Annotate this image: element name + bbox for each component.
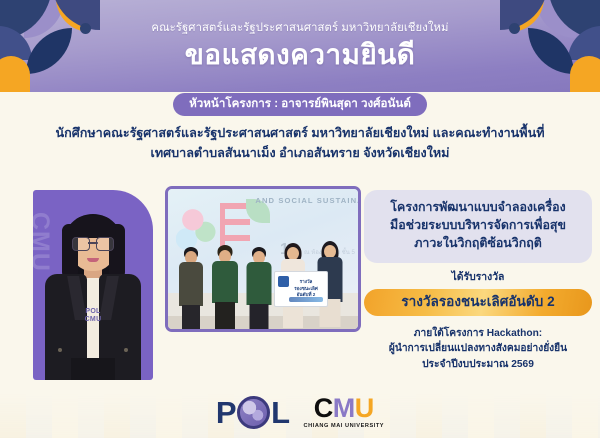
program-line-1: ภายใต้โครงการ Hackathon:: [364, 326, 592, 341]
pol-logo: P L: [216, 396, 290, 429]
portrait-trousers: [71, 358, 115, 380]
congratulations-poster: คณะรัฐศาสตร์และรัฐประศาสนศาสตร์ มหาวิทยา…: [0, 0, 600, 438]
portrait-figure: POL CMU: [41, 208, 145, 380]
subtitle-line-1: นักศึกษาคณะรัฐศาสตร์และรัฐประศาสนศาสตร์ …: [0, 124, 600, 144]
person-body: [179, 262, 203, 306]
cmu-subtitle: CHIANG MAI UNIVERSITY: [304, 424, 385, 430]
slide-artwork-a: [176, 203, 218, 251]
certificate-badge-icon: [278, 276, 289, 287]
award-result-text: รางวัลรองชนะเลิศอันดับ 2: [374, 294, 582, 310]
person-legs: [250, 304, 269, 330]
award-certificate-sign: รางวัล รองชนะเลิศ อันดับที่ 2: [274, 271, 328, 307]
award-intro-text: ได้รับรางวัล: [364, 272, 592, 284]
cmu-letters: CMU: [314, 395, 374, 422]
cmu-letter-c: C: [314, 393, 333, 423]
leader-portrait-photo: CMU POL CMU: [33, 190, 153, 380]
cmu-logo: CMU CHIANG MAI UNIVERSITY: [304, 395, 385, 430]
project-leader-row: หัวหน้าโครงการ : อาจารย์พินสุดา วงศ์อนัน…: [0, 93, 600, 116]
group-person-3: [244, 247, 274, 329]
congratulations-title: ขอแสดงความยินดี: [185, 39, 416, 70]
slide-artwork-rung-3: [224, 235, 250, 241]
eyeglasses-icon: [72, 237, 114, 249]
program-info-block: ภายใต้โครงการ Hackathon: ผู้นำการเปลี่ยน…: [364, 326, 592, 372]
program-line-3: ประจำปีงบประมาณ 2569: [364, 357, 592, 372]
project-title-card: โครงการพัฒนาแบบจำลองเครื่อง มือช่วยระบบบ…: [364, 190, 592, 263]
person-body: [212, 261, 238, 303]
header-banner: คณะรัฐศาสตร์และรัฐประศาสนศาสตร์ มหาวิทยา…: [0, 0, 600, 92]
project-title-line-1: โครงการพัฒนาแบบจำลองเครื่อง: [374, 199, 582, 217]
person-legs: [215, 302, 235, 329]
pol-letter-l: L: [271, 397, 289, 428]
project-title-line-2: มือช่วยระบบบริหารจัดการเพื่อสุข: [374, 217, 582, 235]
project-leader-badge: หัวหน้าโครงการ : อาจารย์พินสุดา วงศ์อนัน…: [173, 93, 427, 116]
footer-logos: P L CMU CHIANG MAI UNIVERSITY: [0, 386, 600, 438]
cmu-letter-m: M: [333, 393, 355, 423]
award-group-photo: AND SOCIAL SUSTAINAB 12 ณ ห้องประชุม ชั้…: [165, 186, 361, 332]
pol-letter-p: P: [216, 397, 236, 428]
subtitle-line-2: เทศบาลตำบลสันนาเม็ง อำเภอสันทราย จังหวัด…: [0, 144, 600, 164]
award-result-badge: รางวัลรองชนะเลิศอันดับ 2: [364, 289, 592, 316]
portrait-button-left: [58, 348, 62, 352]
portrait-shirt-logo: POL CMU: [79, 308, 107, 324]
slide-heading-text: AND SOCIAL SUSTAINAB: [255, 196, 361, 205]
subtitle-block: นักศึกษาคณะรัฐศาสตร์และรัฐประศาสนศาสตร์ …: [0, 124, 600, 163]
pol-globe-icon: [237, 396, 270, 429]
group-person-1: [176, 247, 206, 329]
certificate-wave-decoration: [289, 297, 323, 302]
shirt-logo-cmu: CMU: [79, 316, 107, 324]
portrait-fringe: [70, 216, 116, 238]
shirt-logo-pol: POL: [79, 308, 107, 316]
program-line-2: ผู้นำการเปลี่ยนแปลงทางสังคมอย่างยั่งยืน: [364, 341, 592, 356]
person-body: [247, 262, 272, 305]
faculty-name: คณะรัฐศาสตร์และรัฐประศาสนศาสตร์ มหาวิทยา…: [151, 21, 448, 35]
slide-artwork-rung-2: [224, 219, 250, 225]
project-info-panel: โครงการพัฒนาแบบจำลองเครื่อง มือช่วยระบบบ…: [364, 190, 592, 372]
person-legs: [182, 305, 200, 331]
project-title-line-3: ภาวะในวิกฤติซ้อนวิกฤติ: [374, 235, 582, 253]
portrait-button-right: [124, 348, 128, 352]
group-person-2: [210, 245, 240, 329]
cmu-letter-u: U: [355, 393, 374, 423]
certificate-line-1: รางวัล: [294, 279, 318, 286]
